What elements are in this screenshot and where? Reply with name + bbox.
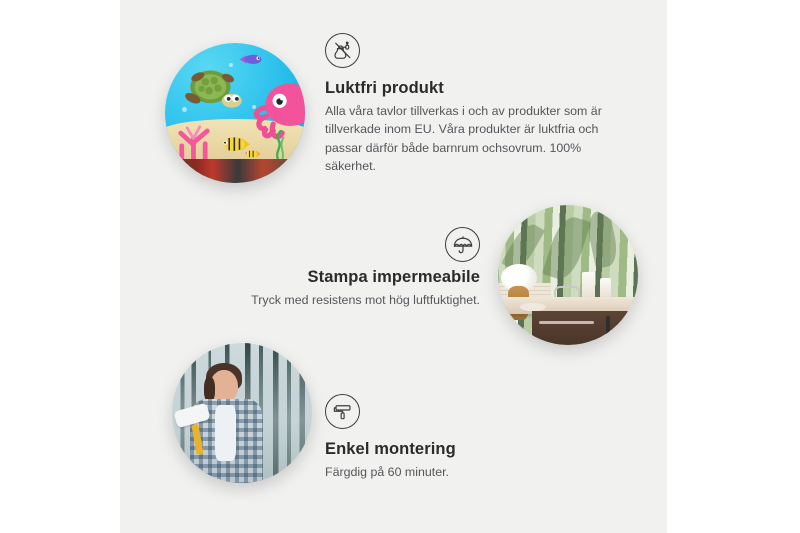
feature-text-easy-mounting: Enkel montering Färgdig på 60 minuter. xyxy=(325,394,625,481)
fish-illustration xyxy=(238,51,263,68)
feature-text-odourless: Luktfri produkt Alla våra tavlor tillver… xyxy=(325,33,625,175)
drawer-handle xyxy=(539,321,594,324)
coral-illustration xyxy=(169,116,222,161)
person-inner-shirt xyxy=(215,405,236,461)
toiletry-bottle xyxy=(582,272,595,300)
seaweed-illustration xyxy=(269,130,289,161)
feature-image-underwater xyxy=(165,43,305,183)
feature-body: Alla våra tavlor tillverkas i och av pro… xyxy=(325,102,625,175)
icon-wrap xyxy=(180,227,480,262)
sea-bottom-strip xyxy=(165,159,305,183)
underwater-sea-life-illustration xyxy=(165,43,305,183)
cabinet-handle xyxy=(606,316,610,340)
feature-panel: Luktfri produkt Alla våra tavlor tillver… xyxy=(120,0,667,533)
feature-image-bathroom xyxy=(498,205,638,345)
feature-title: Enkel montering xyxy=(325,440,625,459)
icon-wrap xyxy=(325,33,625,68)
feature-body: Tryck med resistens mot hög luftfuktighe… xyxy=(180,291,480,309)
feature-title: Stampa impermeabile xyxy=(180,268,480,287)
icon-wrap xyxy=(325,394,625,429)
woman-in-forest-photo xyxy=(172,343,312,483)
bathroom-leaf-wallpaper-photo xyxy=(498,205,638,345)
feature-body: Färgdig på 60 minuter. xyxy=(325,463,625,481)
person-hair-side xyxy=(204,377,215,402)
turtle-illustration xyxy=(182,68,246,118)
umbrella-icon xyxy=(445,227,480,262)
paint-roller-icon xyxy=(325,394,360,429)
feature-image-forest xyxy=(172,343,312,483)
no-fragrance-bottle-icon xyxy=(325,33,360,68)
cabinet-handle xyxy=(626,316,630,340)
wood-cabinet xyxy=(532,311,638,345)
product-feature-banner: Luktfri produkt Alla våra tavlor tillver… xyxy=(0,0,800,533)
feature-text-waterproof: Stampa impermeabile Tryck med resistens … xyxy=(180,227,480,309)
feature-title: Luktfri produkt xyxy=(325,79,625,98)
